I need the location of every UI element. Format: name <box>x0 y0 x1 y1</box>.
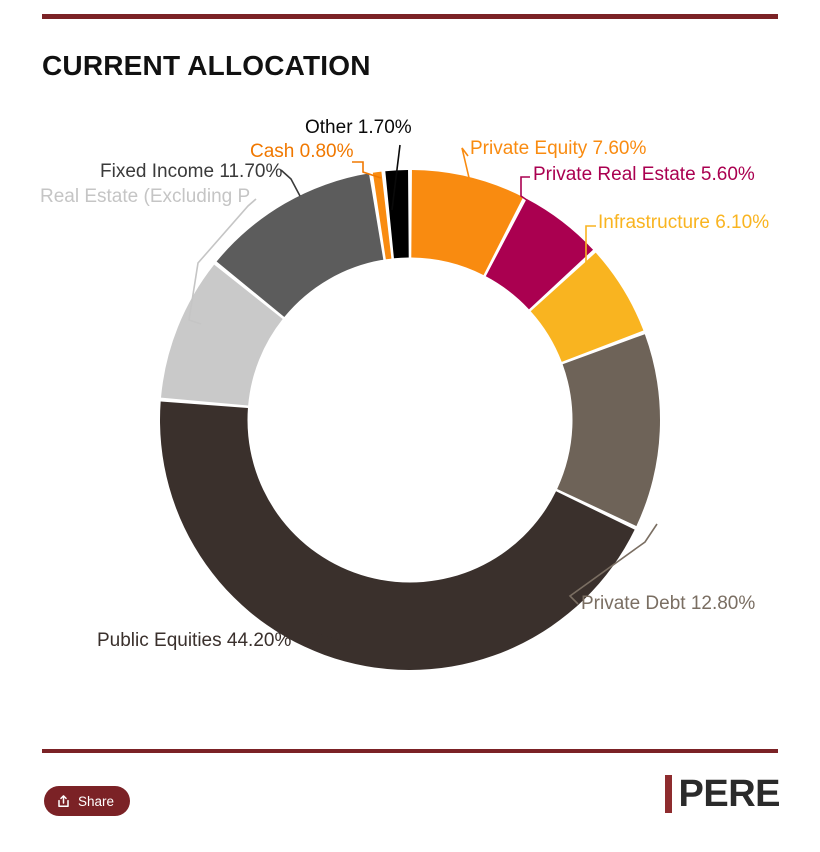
slice-label-private-equity: Private Equity 7.60% <box>470 139 646 160</box>
leader-line-fixed-income <box>281 170 300 196</box>
slice-label-other: Other 1.70% <box>305 118 412 139</box>
share-button-label: Share <box>78 794 114 809</box>
slice-label-infrastructure: Infrastructure 6.10% <box>598 213 769 234</box>
brand-bar <box>665 775 672 813</box>
slice-label-public-equities: Public Equities 44.20% <box>97 631 291 652</box>
brand-logo: PERE <box>665 775 780 813</box>
page-title: CURRENT ALLOCATION <box>42 50 371 82</box>
chart-page: CURRENT ALLOCATION Other 1.70% Cash 0.80… <box>0 0 820 852</box>
slice-label-cash: Cash 0.80% <box>250 142 354 163</box>
share-button[interactable]: Share <box>44 786 130 816</box>
slice-label-private-debt: Private Debt 12.80% <box>581 594 755 615</box>
donut-slice[interactable] <box>557 334 660 526</box>
share-export-icon <box>56 794 71 809</box>
donut-chart: Other 1.70% Cash 0.80% Private Equity 7.… <box>0 100 820 700</box>
header-divider <box>42 14 778 19</box>
slice-label-real-estate-excluding: Real Estate (Excluding P <box>40 187 258 208</box>
slice-label-private-real-estate: Private Real Estate 5.60% <box>533 165 755 186</box>
brand-text: PERE <box>679 775 780 813</box>
footer-divider <box>42 749 778 753</box>
slice-label-fixed-income: Fixed Income 11.70% <box>100 162 282 183</box>
